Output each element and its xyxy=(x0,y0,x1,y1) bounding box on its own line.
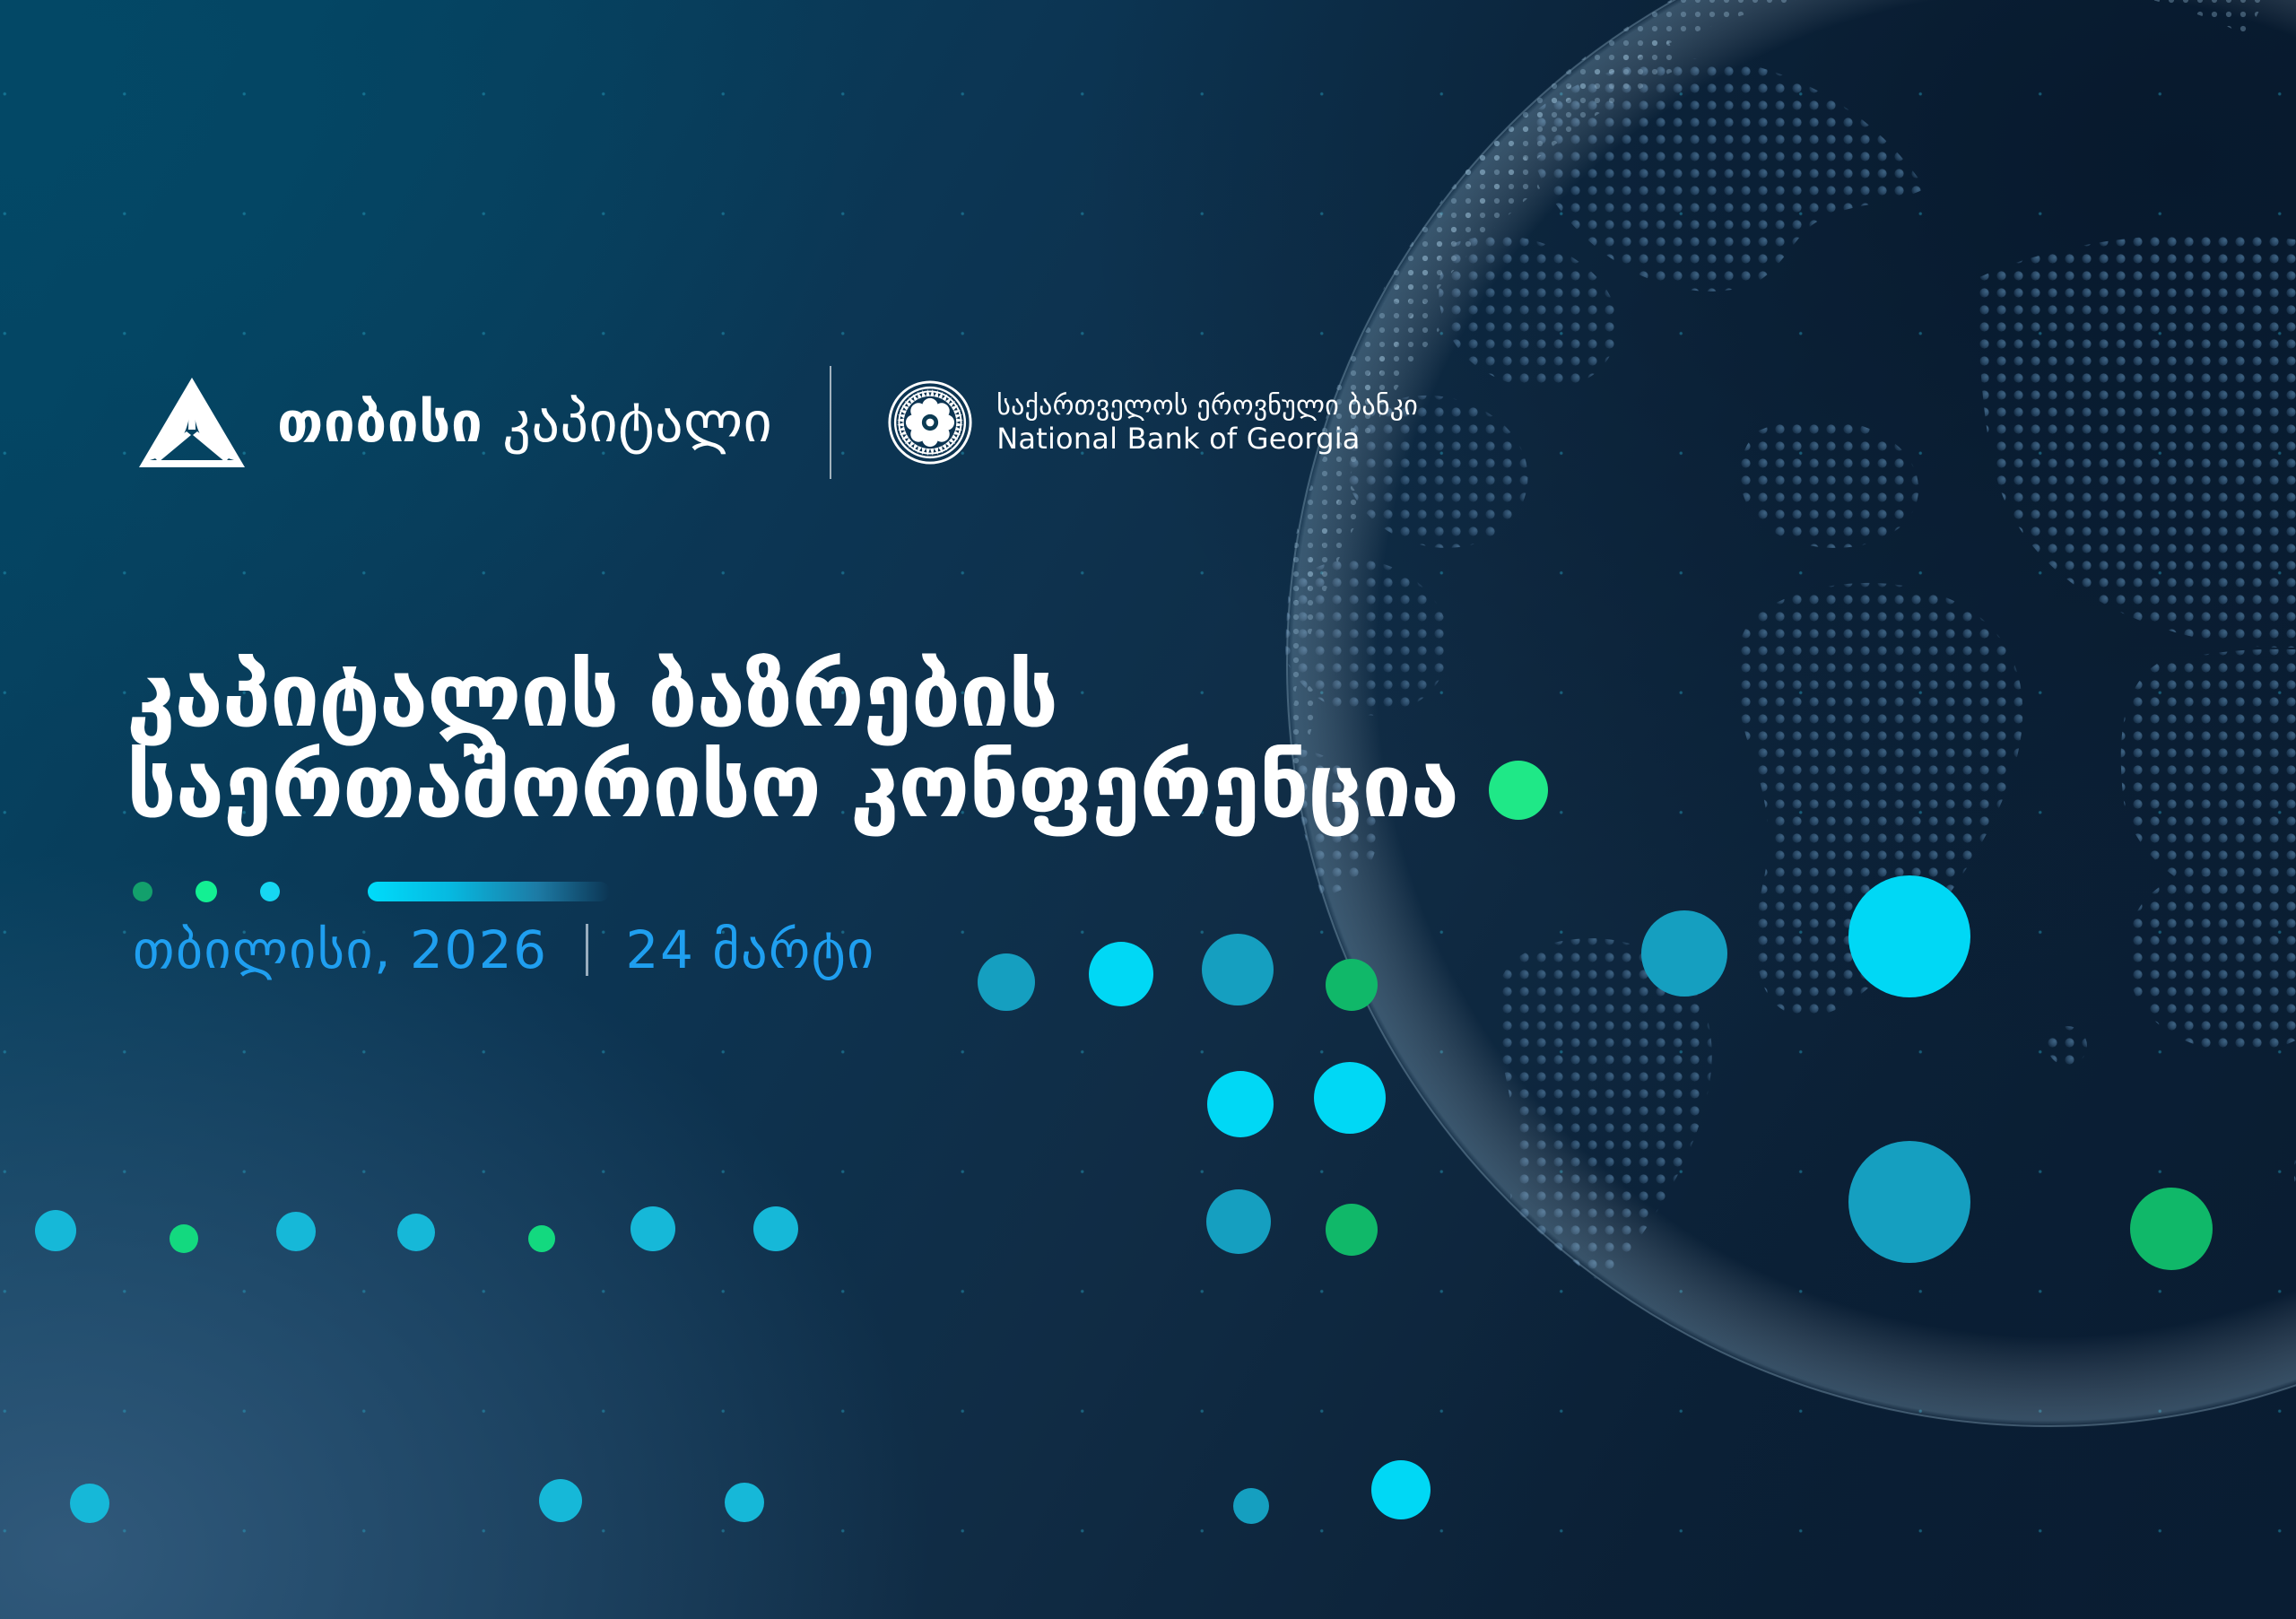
logo-lockup: თიბისი კაპიტალი xyxy=(139,366,1418,479)
decor-dot-cluster-a-1 xyxy=(978,953,1035,1011)
nbg-name-english: National Bank of Georgia xyxy=(996,422,1418,457)
event-details: თბილისი, 2026 24 მარტი xyxy=(133,919,875,980)
dark-green-dot-icon xyxy=(133,882,152,901)
poster-canvas: თიბისი კაპიტალი xyxy=(0,0,2296,1619)
decor-dot-cluster-c-2 xyxy=(1326,1204,1378,1256)
decor-dot-row-left-2 xyxy=(170,1224,198,1253)
nbg-logo[interactable]: საქართველოს ეროვნული ბანკი National Bank… xyxy=(887,379,1418,466)
tbc-capital-wordmark: თიბისი კაპიტალი xyxy=(277,395,772,450)
decor-dot-right-large-2 xyxy=(1848,875,1970,997)
decor-dot-cluster-a-4 xyxy=(1326,959,1378,1011)
tbc-triangle-logo-icon[interactable] xyxy=(139,378,245,467)
decor-dot-row-bottom-5 xyxy=(1371,1460,1431,1519)
nbg-name-georgian: საქართველოს ეროვნული ბანკი xyxy=(996,389,1418,422)
decor-dot-cluster-a-3 xyxy=(1202,934,1274,1005)
decor-dot-right-large-3 xyxy=(1848,1141,1970,1263)
tbc-word-light: კაპიტალი xyxy=(502,389,772,455)
headline-line-2: საერთაშორისო კონფერენცია xyxy=(126,742,1458,832)
nbg-name-block: საქართველოს ეროვნული ბანკი National Bank… xyxy=(996,389,1418,457)
green-circle-accent-icon xyxy=(1489,761,1548,820)
event-date: 24 მარტი xyxy=(626,919,875,980)
decor-dot-row-bottom-4 xyxy=(1233,1488,1269,1524)
bright-green-dot-icon xyxy=(196,881,217,902)
decor-dot-row-bottom-1 xyxy=(70,1484,109,1523)
decor-dot-row-bottom-2 xyxy=(539,1479,582,1522)
cyan-gradient-bar-icon xyxy=(368,882,610,901)
decor-dot-row-left-4 xyxy=(397,1214,435,1251)
decor-dot-right-large-1 xyxy=(1641,910,1727,997)
decor-dot-row-left-7 xyxy=(753,1206,798,1251)
decor-dot-cluster-b-1 xyxy=(1207,1071,1274,1137)
accent-row xyxy=(133,881,610,902)
pipe-separator-icon xyxy=(586,924,588,976)
vertical-divider xyxy=(830,366,831,479)
cyan-dot-icon xyxy=(260,882,280,901)
tbc-word-bold: თიბისი xyxy=(277,389,483,455)
event-location-year: თბილისი, 2026 xyxy=(133,919,548,980)
decor-dot-row-bottom-3 xyxy=(725,1483,764,1522)
decor-dot-cluster-c-1 xyxy=(1206,1189,1271,1254)
headline-line-1: კაპიტალის ბაზრების xyxy=(126,651,1548,742)
decor-dot-cluster-a-2 xyxy=(1089,942,1153,1006)
decor-dot-right-large-4 xyxy=(2130,1188,2213,1270)
decor-dot-row-left-5 xyxy=(528,1225,555,1252)
decor-dot-cluster-b-2 xyxy=(1314,1062,1386,1134)
nbg-rosette-seal-icon xyxy=(887,379,973,466)
decor-dot-row-left-1 xyxy=(35,1210,76,1251)
decor-dot-row-left-6 xyxy=(631,1206,675,1251)
decor-dot-row-left-3 xyxy=(276,1212,316,1251)
page-title: კაპიტალის ბაზრების საერთაშორისო კონფერენ… xyxy=(126,651,1548,832)
